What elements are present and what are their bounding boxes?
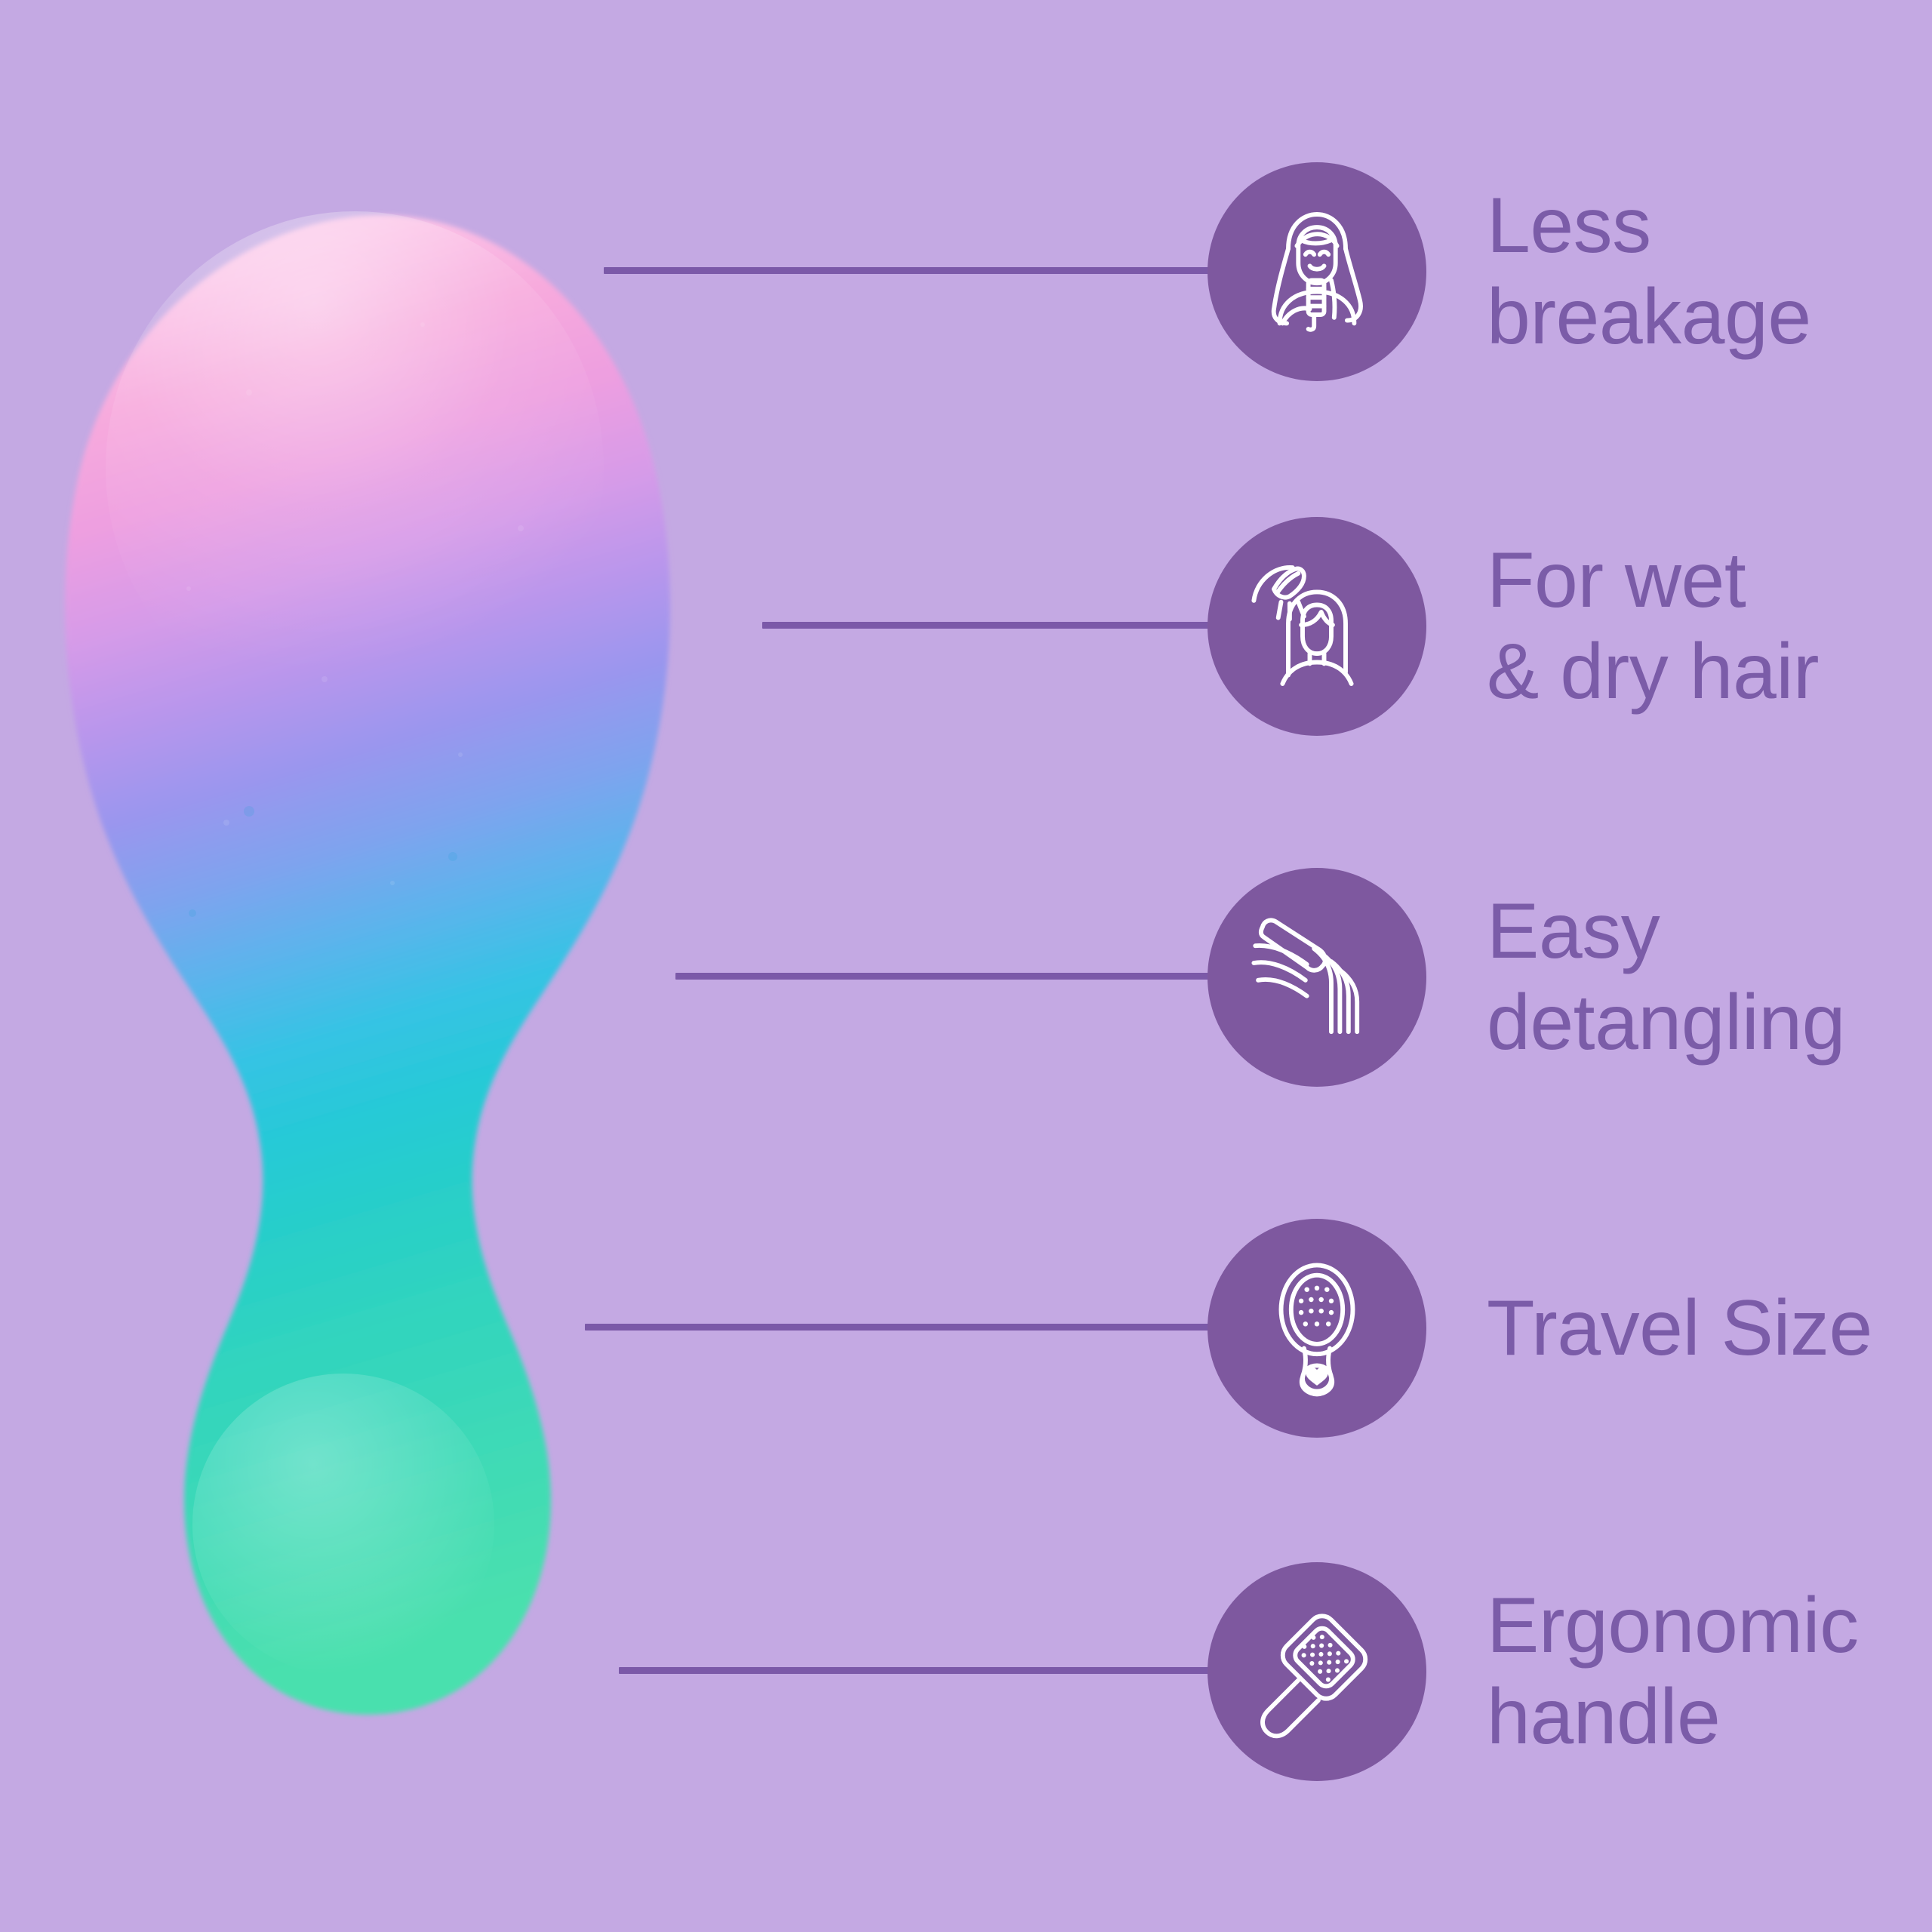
feature-icon-circle [1207,517,1426,736]
connector-line-4 [585,1324,1215,1331]
product-infographic: Less breakage [0,0,1932,1932]
feature-label: Easy detangling [1487,886,1845,1068]
girl-brushing-hair-icon [1245,200,1389,343]
feature-icon-circle [1207,1219,1426,1438]
feature-icon-circle [1207,162,1426,381]
connector-line-3 [675,973,1215,980]
feature-row-for-wet-dry-hair[interactable]: For wet & dry hair [1207,517,1819,736]
showerhead-hair-icon [1245,555,1389,698]
feature-label: For wet & dry hair [1487,535,1819,717]
feature-icon-circle [1207,868,1426,1087]
mini-oval-brush-heart-icon [1245,1257,1389,1400]
feature-row-easy-detangling[interactable]: Easy detangling [1207,868,1845,1087]
paddle-brush-icon [1245,1600,1389,1743]
feature-row-less-breakage[interactable]: Less breakage [1207,162,1811,381]
comb-through-hair-icon [1245,906,1389,1049]
feature-row-travel-size[interactable]: Travel Size [1207,1219,1872,1438]
hair-brush-illustration [0,0,830,1932]
feature-row-ergonomic-handle[interactable]: Ergonomic handle [1207,1562,1859,1781]
feature-label: Less breakage [1487,180,1811,362]
feature-label: Travel Size [1487,1283,1872,1374]
feature-icon-circle [1207,1562,1426,1781]
connector-line-1 [604,267,1215,274]
connector-line-5 [619,1667,1215,1674]
connector-line-2 [762,622,1215,629]
feature-label: Ergonomic handle [1487,1580,1859,1762]
product-image-hair-brush [0,0,830,1932]
